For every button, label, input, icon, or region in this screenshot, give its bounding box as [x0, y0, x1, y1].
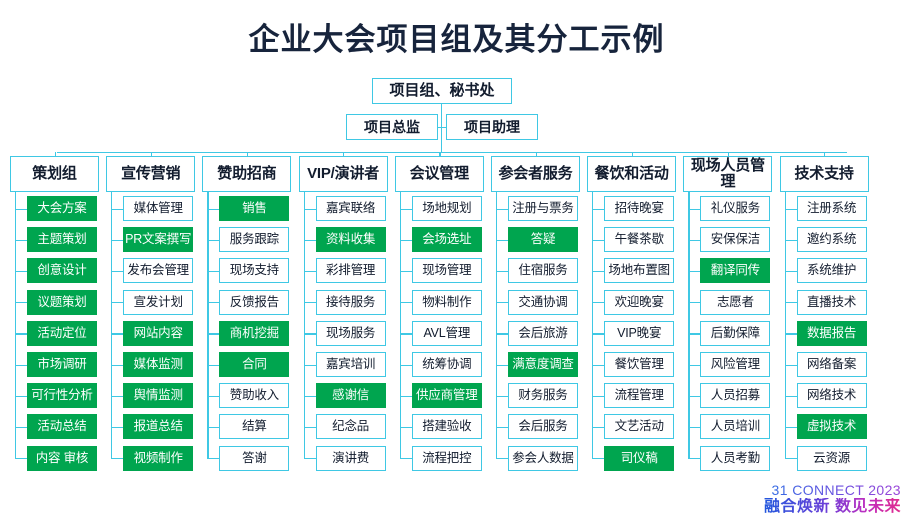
connector-item-stub [207, 458, 219, 459]
connector-item-stub [111, 240, 123, 241]
connector-item-stub [400, 427, 412, 428]
connector-item-stub [207, 396, 219, 397]
node-project-assistant[interactable]: 项目助理 [446, 114, 538, 140]
org-item[interactable]: 物料制作 [412, 290, 482, 315]
org-item[interactable]: 现场支持 [219, 258, 289, 283]
connector-item-stub [785, 427, 797, 428]
org-item[interactable]: 舆情监测 [123, 383, 193, 408]
org-item[interactable]: 视频制作 [123, 446, 193, 471]
org-item[interactable]: 交通协调 [508, 290, 578, 315]
org-item[interactable]: 嘉宾培训 [316, 352, 386, 377]
org-item[interactable]: 欢迎晚宴 [604, 290, 674, 315]
connector-item-stub [496, 302, 508, 303]
connector-column-spine [15, 192, 16, 458]
node-project-director[interactable]: 项目总监 [346, 114, 438, 140]
connector-item-stub [207, 240, 219, 241]
connector-item-stub [207, 302, 219, 303]
connector-item-stub [400, 458, 412, 459]
org-item[interactable]: 市场调研 [27, 352, 97, 377]
org-item[interactable]: 直播技术 [797, 290, 867, 315]
connector-item-stub [207, 333, 219, 334]
connector-item-stub [400, 271, 412, 272]
org-item[interactable]: 志愿者 [700, 290, 770, 315]
event-logo: 31 CONNECT 2023 融合焕新 数见未来 [764, 483, 901, 515]
connector-item-stub [688, 458, 700, 459]
org-item[interactable]: 后勤保障 [700, 321, 770, 346]
org-item[interactable]: 流程把控 [412, 446, 482, 471]
connector-item-stub [304, 396, 316, 397]
node-root[interactable]: 项目组、秘书处 [372, 78, 512, 104]
connector-item-stub [400, 209, 412, 210]
connector-item-stub [15, 427, 27, 428]
org-item[interactable]: 合同 [219, 352, 289, 377]
org-item[interactable]: 注册系统 [797, 196, 867, 221]
connector-item-stub [496, 458, 508, 459]
connector-item-stub [111, 427, 123, 428]
org-item[interactable]: 会后服务 [508, 414, 578, 439]
org-item[interactable]: 嘉宾联络 [316, 196, 386, 221]
connector-item-stub [207, 209, 219, 210]
org-item[interactable]: 系统维护 [797, 258, 867, 283]
connector-item-stub [15, 271, 27, 272]
connector-item-stub [207, 271, 219, 272]
org-item[interactable]: 场地布置图 [604, 258, 674, 283]
connector-item-stub [785, 365, 797, 366]
org-item[interactable]: 虚拟技术 [797, 414, 867, 439]
connector-item-stub [111, 209, 123, 210]
org-item[interactable]: 人员招募 [700, 383, 770, 408]
org-item[interactable]: 人员考勤 [700, 446, 770, 471]
org-item[interactable]: 彩排管理 [316, 258, 386, 283]
connector-item-stub [592, 365, 604, 366]
connector-item-stub [496, 396, 508, 397]
org-item[interactable]: 现场管理 [412, 258, 482, 283]
connector-item-stub [592, 333, 604, 334]
org-item[interactable]: 财务服务 [508, 383, 578, 408]
org-item[interactable]: 数据报告 [797, 321, 867, 346]
connector-column-spine [785, 192, 786, 458]
org-item[interactable]: 会场选址 [412, 227, 482, 252]
org-item[interactable]: 网站内容 [123, 321, 193, 346]
org-item[interactable]: 午餐茶歇 [604, 227, 674, 252]
org-item[interactable]: 发布会管理 [123, 258, 193, 283]
connector-item-stub [688, 302, 700, 303]
connector-column-spine [111, 192, 112, 458]
org-item[interactable]: 文艺活动 [604, 414, 674, 439]
connector-item-stub [400, 302, 412, 303]
connector-column-spine [304, 192, 305, 458]
org-item[interactable]: 现场服务 [316, 321, 386, 346]
column-header[interactable]: 现场人员管理 [683, 156, 772, 192]
connector-item-stub [111, 333, 123, 334]
org-item[interactable]: 住宿服务 [508, 258, 578, 283]
connector-item-stub [496, 271, 508, 272]
org-item[interactable]: 流程管理 [604, 383, 674, 408]
connector-item-stub [15, 209, 27, 210]
connector-item-stub [304, 365, 316, 366]
connector-item-stub [688, 427, 700, 428]
org-item[interactable]: 供应商管理 [412, 383, 482, 408]
org-item[interactable]: 反馈报告 [219, 290, 289, 315]
org-item[interactable]: 网络技术 [797, 383, 867, 408]
connector-column-spine [592, 192, 593, 458]
org-item[interactable]: 礼仪服务 [700, 196, 770, 221]
org-item[interactable]: 内容 审核 [27, 446, 97, 471]
org-item[interactable]: 服务跟踪 [219, 227, 289, 252]
connector-item-stub [592, 302, 604, 303]
org-item[interactable]: 答谢 [219, 446, 289, 471]
connector-column-spine [688, 192, 689, 458]
org-item[interactable]: 活动定位 [27, 321, 97, 346]
org-item[interactable]: 纪念品 [316, 414, 386, 439]
connector-item-stub [304, 271, 316, 272]
column-header[interactable]: VIP/演讲者 [299, 156, 388, 192]
connector-item-stub [207, 427, 219, 428]
connector-item-stub [304, 458, 316, 459]
column-header[interactable]: 策划组 [10, 156, 99, 192]
connector-item-stub [496, 365, 508, 366]
connector-item-stub [111, 271, 123, 272]
connector-item-stub [15, 333, 27, 334]
org-item[interactable]: 餐饮管理 [604, 352, 674, 377]
column-header[interactable]: 赞助招商 [202, 156, 291, 192]
connector-column-spine [496, 192, 497, 458]
org-item[interactable]: 邀约系统 [797, 227, 867, 252]
column-header[interactable]: 餐饮和活动 [587, 156, 676, 192]
connector-item-stub [304, 240, 316, 241]
connector-item-stub [688, 209, 700, 210]
org-item[interactable]: 统筹协调 [412, 352, 482, 377]
connector-item-stub [400, 333, 412, 334]
org-item[interactable]: 可行性分析 [27, 383, 97, 408]
connector-item-stub [400, 396, 412, 397]
connector-item-stub [688, 396, 700, 397]
connector-item-stub [688, 333, 700, 334]
org-item[interactable]: 媒体管理 [123, 196, 193, 221]
org-item[interactable]: 招待晚宴 [604, 196, 674, 221]
org-item[interactable]: 资料收集 [316, 227, 386, 252]
org-item[interactable]: 满意度调查 [508, 352, 578, 377]
connector-item-stub [207, 365, 219, 366]
connector-item-stub [785, 209, 797, 210]
connector-item-stub [304, 302, 316, 303]
connector-item-stub [688, 365, 700, 366]
connector-item-stub [304, 209, 316, 210]
logo-line-1: 31 CONNECT 2023 [764, 483, 901, 498]
column-header[interactable]: 宣传营销 [106, 156, 195, 192]
connector-item-stub [304, 427, 316, 428]
connector-item-stub [688, 271, 700, 272]
org-item[interactable]: 议题策划 [27, 290, 97, 315]
org-item[interactable]: 商机挖掘 [219, 321, 289, 346]
org-item[interactable]: 销售 [219, 196, 289, 221]
org-item[interactable]: 注册与票务 [508, 196, 578, 221]
org-item[interactable]: 媒体监测 [123, 352, 193, 377]
org-item[interactable]: 搭建验收 [412, 414, 482, 439]
column-header[interactable]: 技术支持 [780, 156, 869, 192]
connector-item-stub [496, 333, 508, 334]
connector-item-stub [15, 458, 27, 459]
connector-item-stub [111, 458, 123, 459]
connector-column-spine [207, 192, 208, 458]
org-item[interactable]: VIP晚宴 [604, 321, 674, 346]
connector-item-stub [111, 396, 123, 397]
connector-item-stub [400, 240, 412, 241]
org-item[interactable]: 云资源 [797, 446, 867, 471]
org-item[interactable]: 翻译同传 [700, 258, 770, 283]
org-item[interactable]: 赞助收入 [219, 383, 289, 408]
connector-item-stub [15, 365, 27, 366]
connector-item-stub [785, 271, 797, 272]
org-item[interactable]: 演讲费 [316, 446, 386, 471]
connector-director-stub [438, 127, 446, 128]
connector-item-stub [496, 427, 508, 428]
org-item[interactable]: 创意设计 [27, 258, 97, 283]
connector-item-stub [304, 333, 316, 334]
org-item[interactable]: 结算 [219, 414, 289, 439]
org-item[interactable]: 司仪稿 [604, 446, 674, 471]
org-item[interactable]: 感谢信 [316, 383, 386, 408]
connector-item-stub [592, 271, 604, 272]
connector-item-stub [111, 302, 123, 303]
connector-item-stub [592, 209, 604, 210]
connector-item-stub [785, 240, 797, 241]
org-item[interactable]: 答疑 [508, 227, 578, 252]
connector-item-stub [592, 427, 604, 428]
org-item[interactable]: 接待服务 [316, 290, 386, 315]
page-title: 企业大会项目组及其分工示例 [0, 14, 913, 59]
connector-item-stub [496, 209, 508, 210]
org-item[interactable]: 大会方案 [27, 196, 97, 221]
org-item[interactable]: 风险管理 [700, 352, 770, 377]
connector-item-stub [592, 396, 604, 397]
connector-item-stub [400, 365, 412, 366]
connector-item-stub [785, 302, 797, 303]
org-item[interactable]: AVL管理 [412, 321, 482, 346]
connector-item-stub [592, 240, 604, 241]
logo-line-2: 融合焕新 数见未来 [764, 498, 901, 515]
org-item[interactable]: 安保保洁 [700, 227, 770, 252]
connector-item-stub [15, 396, 27, 397]
org-item[interactable]: PR文案撰写 [123, 227, 193, 252]
org-item[interactable]: 活动总结 [27, 414, 97, 439]
org-item[interactable]: 人员培训 [700, 414, 770, 439]
org-item[interactable]: 会后旅游 [508, 321, 578, 346]
connector-item-stub [785, 396, 797, 397]
connector-item-stub [111, 365, 123, 366]
org-item[interactable]: 宣发计划 [123, 290, 193, 315]
connector-item-stub [688, 240, 700, 241]
connector-item-stub [592, 458, 604, 459]
org-item[interactable]: 场地规划 [412, 196, 482, 221]
org-item[interactable]: 报道总结 [123, 414, 193, 439]
org-item[interactable]: 网络备案 [797, 352, 867, 377]
connector-item-stub [785, 333, 797, 334]
org-item[interactable]: 主题策划 [27, 227, 97, 252]
column-header[interactable]: 参会者服务 [491, 156, 580, 192]
connector-column-spine [400, 192, 401, 458]
connector-item-stub [785, 458, 797, 459]
org-item[interactable]: 参会人数据 [508, 446, 578, 471]
connector-item-stub [15, 302, 27, 303]
column-header[interactable]: 会议管理 [395, 156, 484, 192]
connector-item-stub [496, 240, 508, 241]
connector-item-stub [15, 240, 27, 241]
